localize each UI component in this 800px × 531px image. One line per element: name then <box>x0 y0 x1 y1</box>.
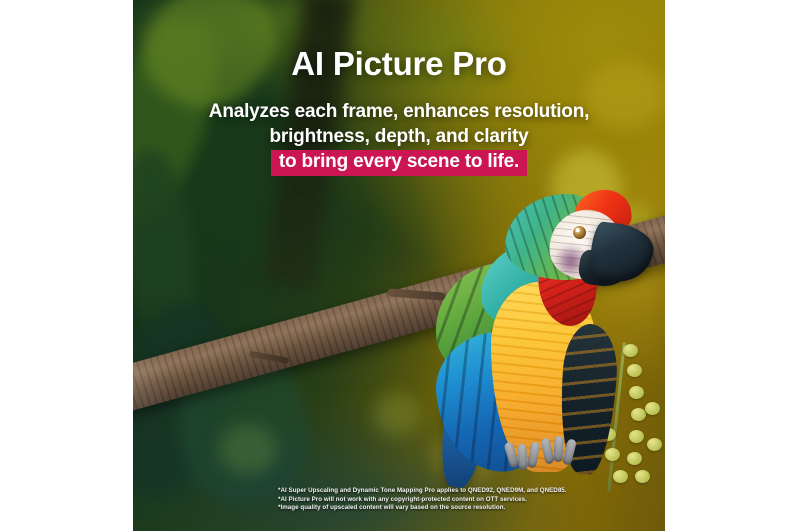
parrot-toe <box>527 441 540 468</box>
footnote-line: *AI Super Upscaling and Dynamic Tone Map… <box>278 487 567 496</box>
parrot-toe <box>562 438 577 465</box>
subtitle-line-1: Analyzes each frame, enhances resolution… <box>209 101 589 122</box>
page-root: AI Picture Pro Analyzes each frame, enha… <box>0 0 800 531</box>
bokeh-dot <box>373 392 419 436</box>
berry <box>613 470 628 483</box>
berry <box>635 470 650 483</box>
parrot-eye <box>573 226 586 239</box>
subtitle-line-2: brightness, depth, and clarity <box>270 126 529 147</box>
hero-image-panel: AI Picture Pro Analyzes each frame, enha… <box>133 0 665 531</box>
macaw-parrot <box>433 186 643 466</box>
berry <box>645 402 660 415</box>
parrot-toe <box>540 437 554 464</box>
footnote-line: *Image quality of upscaled content will … <box>278 504 567 513</box>
bokeh-dot <box>219 424 277 474</box>
berry <box>647 438 662 451</box>
parrot-toe <box>517 444 528 471</box>
parrot-toe <box>554 436 564 462</box>
parrot-foot <box>507 442 547 476</box>
subtitle-block: Analyzes each frame, enhances resolution… <box>133 99 665 176</box>
subtitle-highlight: to bring every scene to life. <box>271 150 527 176</box>
footnote-line: *AI Picture Pro will not work with any c… <box>278 496 567 505</box>
footnote-block: *AI Super Upscaling and Dynamic Tone Map… <box>278 487 567 513</box>
page-title: AI Picture Pro <box>133 45 665 83</box>
parrot-foot <box>543 436 583 470</box>
